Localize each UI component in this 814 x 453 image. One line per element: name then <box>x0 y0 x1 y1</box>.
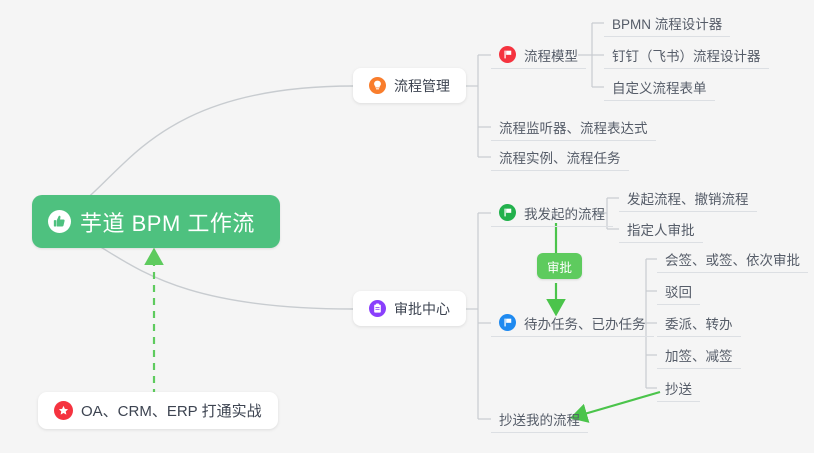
node-label: 抄送我的流程 <box>499 409 580 429</box>
node-bpmn-designer[interactable]: BPMN 流程设计器 <box>604 9 730 37</box>
node-label: 待办任务、已办任务 <box>524 313 646 333</box>
node-label: 会签、或签、依次审批 <box>665 249 800 269</box>
flag-icon <box>499 46 516 63</box>
node-reject[interactable]: 驳回 <box>657 277 700 305</box>
root-label: 芋道 BPM 工作流 <box>80 206 255 238</box>
node-label: 抄送 <box>665 378 692 398</box>
node-label: 自定义流程表单 <box>612 77 707 97</box>
node-todo-done-tasks[interactable]: 待办任务、已办任务 <box>491 309 654 337</box>
node-process-instance[interactable]: 流程实例、流程任务 <box>491 143 629 171</box>
node-label: BPMN 流程设计器 <box>612 13 722 33</box>
clipboard-icon <box>369 300 386 317</box>
mindmap-canvas: 芋道 BPM 工作流 流程管理 流程模型 BPMN 流程设计器 钉钉（飞书）流程… <box>0 0 814 453</box>
node-label: 流程模型 <box>524 45 578 65</box>
node-label: 委派、转办 <box>665 313 733 333</box>
node-label: 加签、减签 <box>665 345 733 365</box>
node-label: 驳回 <box>665 281 692 301</box>
floating-node-label: OA、CRM、ERP 打通实战 <box>81 400 262 421</box>
thumbs-up-icon <box>48 210 71 233</box>
node-label: 流程实例、流程任务 <box>499 147 621 167</box>
star-icon <box>54 401 73 420</box>
node-assignee-approval[interactable]: 指定人审批 <box>619 215 703 243</box>
node-add-remove-sign[interactable]: 加签、减签 <box>657 341 741 369</box>
lightbulb-icon <box>369 77 386 94</box>
flag-icon <box>499 204 516 221</box>
floating-node-integration[interactable]: OA、CRM、ERP 打通实战 <box>38 392 278 429</box>
node-label: 我发起的流程 <box>524 203 605 223</box>
node-cc-to-me-process[interactable]: 抄送我的流程 <box>491 405 588 433</box>
node-label: 流程监听器、流程表达式 <box>499 117 648 137</box>
node-custom-process-form[interactable]: 自定义流程表单 <box>604 73 715 101</box>
flag-icon <box>499 314 516 331</box>
branch-approval-center[interactable]: 审批中心 <box>353 291 466 326</box>
node-my-initiated-process[interactable]: 我发起的流程 <box>491 199 613 227</box>
edge-label-approval: 审批 <box>537 253 582 279</box>
node-start-cancel-process[interactable]: 发起流程、撤销流程 <box>619 184 757 212</box>
node-label: 钉钉（飞书）流程设计器 <box>612 45 761 65</box>
root-node[interactable]: 芋道 BPM 工作流 <box>32 195 280 248</box>
node-label: 发起流程、撤销流程 <box>627 188 749 208</box>
node-delegate-transfer[interactable]: 委派、转办 <box>657 309 741 337</box>
edge-label-text: 审批 <box>547 257 572 276</box>
node-process-model[interactable]: 流程模型 <box>491 41 586 69</box>
node-label: 指定人审批 <box>627 219 695 239</box>
node-cc[interactable]: 抄送 <box>657 374 700 402</box>
node-process-listener[interactable]: 流程监听器、流程表达式 <box>491 113 656 141</box>
node-dingtalk-feishu-designer[interactable]: 钉钉（飞书）流程设计器 <box>604 41 769 69</box>
branch-label: 流程管理 <box>394 76 450 96</box>
branch-label: 审批中心 <box>394 299 450 319</box>
branch-process-management[interactable]: 流程管理 <box>353 68 466 103</box>
node-countersign[interactable]: 会签、或签、依次审批 <box>657 245 808 273</box>
